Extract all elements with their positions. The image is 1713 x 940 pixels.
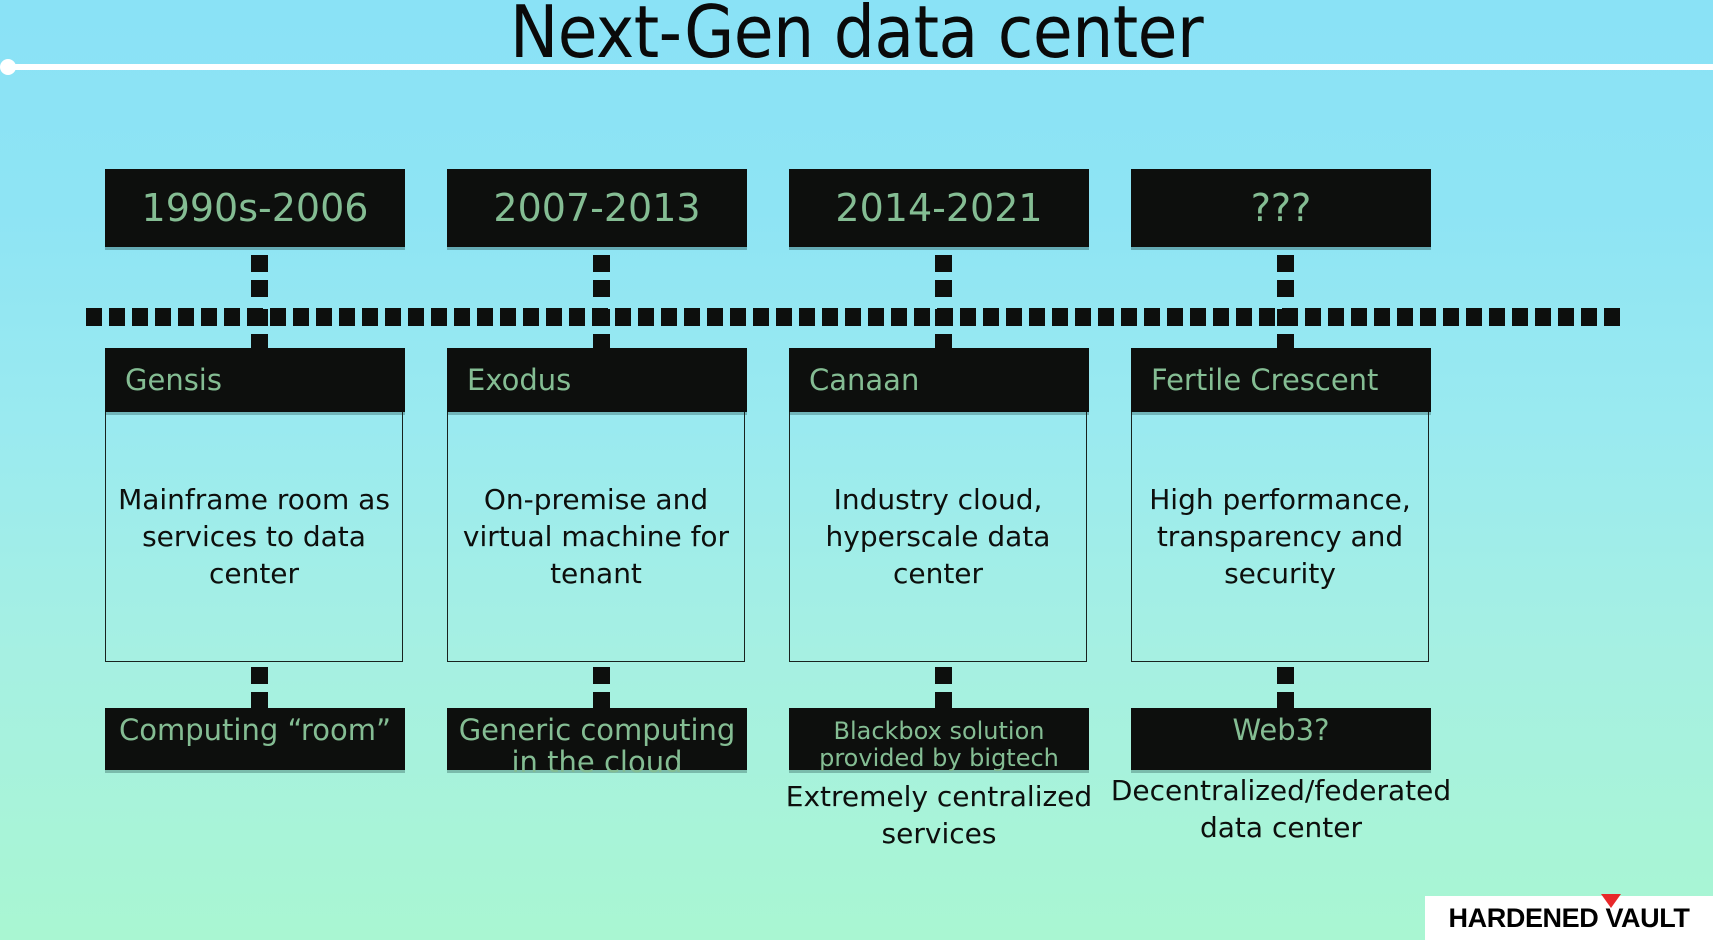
connector-up-2	[593, 255, 610, 297]
era-label-3: 2014-2021	[835, 189, 1042, 227]
connector-up-1	[251, 255, 268, 297]
era-label-1: 1990s-2006	[142, 189, 369, 227]
stage-name-box-3[interactable]: Canaan	[789, 348, 1089, 412]
triangle-mark-icon	[1601, 894, 1621, 908]
connector-bottom-4	[1277, 667, 1294, 709]
timeline-column-3: 2014-2021 Canaan Industry cloud, hypersc…	[789, 0, 1089, 940]
connector-down-2	[593, 309, 610, 351]
stage-note-4: Decentralized/federated data center	[1101, 772, 1461, 846]
stage-tag-label-2: Generic computing in the cloud	[447, 708, 747, 779]
stage-name-label-3: Canaan	[789, 366, 919, 395]
connector-bottom-2	[593, 667, 610, 709]
stage-name-box-4[interactable]: Fertile Crescent	[1131, 348, 1431, 412]
stage-name-box-2[interactable]: Exodus	[447, 348, 747, 412]
era-box-2[interactable]: 2007-2013	[447, 169, 747, 247]
era-label-2: 2007-2013	[493, 189, 700, 227]
stage-name-label-2: Exodus	[447, 366, 571, 395]
era-box-4[interactable]: ???	[1131, 169, 1431, 247]
stage-tag-label-1: Computing “room”	[105, 708, 405, 746]
stage-description-text-3: Industry cloud, hyperscale data center	[790, 481, 1086, 593]
stage-name-label-1: Gensis	[105, 366, 222, 395]
stage-name-label-4: Fertile Crescent	[1131, 366, 1378, 395]
era-box-1[interactable]: 1990s-2006	[105, 169, 405, 247]
slide-canvas: Next-Gen data center 1990s-2006 Gensis M…	[0, 0, 1713, 940]
connector-up-3	[935, 255, 952, 297]
hardened-vault-logo: HARDENED VAULT	[1425, 896, 1713, 940]
connector-bottom-1	[251, 667, 268, 709]
stage-description-text-2: On-premise and virtual machine for tenan…	[448, 481, 744, 593]
stage-description-box-4: High performance, transparency and secur…	[1131, 412, 1429, 662]
stage-description-text-1: Mainframe room as services to data cente…	[106, 481, 402, 593]
stage-description-box-2: On-premise and virtual machine for tenan…	[447, 412, 745, 662]
connector-down-4	[1277, 309, 1294, 351]
era-box-3[interactable]: 2014-2021	[789, 169, 1089, 247]
title-divider-dot	[0, 59, 16, 75]
stage-note-3: Extremely centralized services	[759, 778, 1119, 852]
connector-down-3	[935, 309, 952, 351]
timeline-column-4: ??? Fertile Crescent High performance, t…	[1131, 0, 1431, 940]
timeline-column-1: 1990s-2006 Gensis Mainframe room as serv…	[105, 0, 405, 940]
connector-up-4	[1277, 255, 1294, 297]
stage-name-box-1[interactable]: Gensis	[105, 348, 405, 412]
stage-tag-label-4: Web3?	[1131, 708, 1431, 746]
connector-bottom-3	[935, 667, 952, 709]
stage-tag-label-3: Blackbox solution provided by bigtech	[789, 708, 1089, 772]
stage-description-box-1: Mainframe room as services to data cente…	[105, 412, 403, 662]
connector-down-1	[251, 309, 268, 351]
stage-description-box-3: Industry cloud, hyperscale data center	[789, 412, 1087, 662]
era-label-4: ???	[1251, 189, 1312, 227]
timeline-column-2: 2007-2013 Exodus On-premise and virtual …	[447, 0, 747, 940]
stage-description-text-4: High performance, transparency and secur…	[1132, 481, 1428, 593]
hardened-vault-logo-text: HARDENED VAULT	[1449, 903, 1690, 934]
